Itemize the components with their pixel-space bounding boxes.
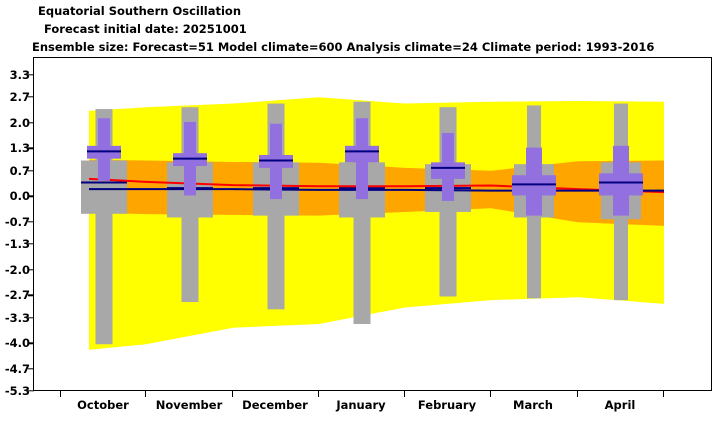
y-axis-tick-label: 2.7 bbox=[10, 90, 30, 104]
x-axis-tick-mark bbox=[60, 391, 61, 397]
x-axis-month-label: November bbox=[156, 398, 223, 412]
box-iqr bbox=[599, 173, 643, 195]
y-axis-tick-mark bbox=[28, 170, 34, 171]
chart-root: Equatorial Southern Oscillation Forecast… bbox=[0, 0, 719, 421]
x-axis-month-label: February bbox=[418, 398, 476, 412]
y-axis-tick-mark bbox=[28, 269, 34, 270]
x-axis-tick-mark bbox=[577, 391, 578, 397]
y-axis-tick-label: -4.7 bbox=[5, 362, 30, 376]
x-axis-tick-mark bbox=[232, 391, 233, 397]
x-axis-tick-mark bbox=[663, 391, 664, 397]
page-title: Equatorial Southern Oscillation bbox=[38, 4, 241, 18]
y-axis-tick-label: 0.0 bbox=[10, 189, 30, 203]
y-axis-tick-mark bbox=[28, 74, 34, 75]
box-iqr bbox=[345, 146, 379, 163]
y-axis-tick-label: -0.7 bbox=[5, 215, 30, 229]
y-axis-tick-mark bbox=[28, 148, 34, 149]
y-axis-tick-label: -3.3 bbox=[5, 311, 30, 325]
ensemble-info-label: Ensemble size: Forecast=51 Model climate… bbox=[32, 40, 654, 54]
y-axis-tick-label: -2.0 bbox=[5, 263, 30, 277]
y-axis-tick-labels: 3.32.72.01.30.70.0-0.7-1.3-2.0-2.7-3.3-4… bbox=[0, 0, 30, 421]
y-axis-tick-mark bbox=[28, 343, 34, 344]
y-axis-tick-label: -5.3 bbox=[5, 384, 30, 398]
band-climate-extremes bbox=[89, 97, 664, 349]
y-axis-tick-label: -1.3 bbox=[5, 237, 30, 251]
x-axis-month-label: October bbox=[77, 398, 129, 412]
box-iqr bbox=[431, 162, 465, 179]
y-axis-tick-label: -4.0 bbox=[5, 336, 30, 350]
x-axis-tick-mark bbox=[318, 391, 319, 397]
x-axis-month-label: March bbox=[513, 398, 553, 412]
x-axis-tick-mark bbox=[145, 391, 146, 397]
y-axis-tick-mark bbox=[28, 295, 34, 296]
y-axis-tick-mark bbox=[28, 317, 34, 318]
x-axis-month-label: December bbox=[242, 398, 308, 412]
y-axis-tick-mark bbox=[28, 96, 34, 97]
plot-frame bbox=[33, 57, 712, 391]
y-axis-tick-mark bbox=[28, 368, 34, 369]
chart-svg bbox=[34, 58, 711, 390]
x-axis-tick-mark bbox=[490, 391, 491, 397]
x-axis-month-label: January bbox=[336, 398, 385, 412]
plot-area bbox=[34, 58, 711, 390]
y-axis-tick-label: 3.3 bbox=[10, 68, 30, 82]
y-axis-tick-label: -2.7 bbox=[5, 288, 30, 302]
x-axis-tick-mark bbox=[404, 391, 405, 397]
y-axis-tick-label: 1.3 bbox=[10, 141, 30, 155]
forecast-date-label: Forecast initial date: 20251001 bbox=[44, 22, 247, 36]
y-axis-tick-mark bbox=[28, 221, 34, 222]
y-axis-tick-mark bbox=[28, 196, 34, 197]
y-axis-tick-mark bbox=[28, 390, 34, 391]
y-axis-tick-label: 0.7 bbox=[10, 164, 30, 178]
x-axis-month-label: April bbox=[605, 398, 636, 412]
y-axis-tick-label: 2.0 bbox=[10, 116, 30, 130]
y-axis-tick-mark bbox=[28, 243, 34, 244]
y-axis-tick-mark bbox=[28, 122, 34, 123]
